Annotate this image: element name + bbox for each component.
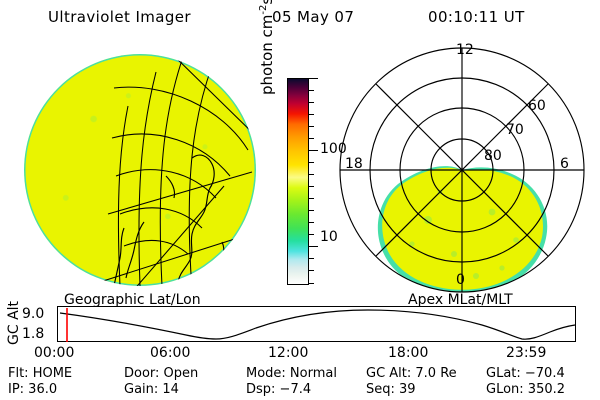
- observation-date: 05 May 07: [272, 8, 354, 26]
- polar-grid: [336, 44, 588, 296]
- header-bar: Ultraviolet Imager 05 May 07 00:10:11 UT: [0, 6, 600, 30]
- status-gain: Gain: 14: [124, 382, 179, 397]
- latitude-label-60: 60: [528, 98, 546, 114]
- orbit-altitude-plot[interactable]: [57, 306, 576, 342]
- colorbar-exp-1: -2: [258, 5, 269, 15]
- status-glat: GLat: −70.4: [486, 366, 565, 381]
- latitude-label-80: 80: [484, 148, 502, 164]
- orbit-track: [58, 307, 577, 343]
- mlt-label-6: 6: [560, 156, 569, 172]
- colorbar-ticks: [309, 78, 319, 285]
- latitude-label-70: 70: [506, 122, 524, 138]
- time-tick-2359: 23:59: [506, 345, 546, 361]
- polar-mlat-mlt-panel[interactable]: 12 6 0 18 60 70 80: [336, 44, 588, 296]
- status-gc-alt: GC Alt: 7.0 Re: [366, 366, 457, 381]
- status-dsp: Dsp: −7.4: [246, 382, 311, 397]
- time-tick-1800: 18:00: [388, 345, 428, 361]
- gc-alt-tick-high: 9.0: [22, 306, 44, 322]
- time-tick-1200: 12:00: [268, 345, 308, 361]
- time-tick-0600: 06:00: [150, 345, 190, 361]
- geographic-overlay: [16, 46, 264, 294]
- instrument-title: Ultraviolet Imager: [48, 8, 191, 26]
- colorbar-title-text: photon cm: [258, 15, 276, 95]
- colorbar-title-mid: s: [258, 0, 276, 5]
- mlt-label-12: 12: [456, 42, 474, 58]
- uvi-display: Ultraviolet Imager 05 May 07 00:10:11 UT: [0, 0, 600, 400]
- colorbar-axis-title: photon cm-2s-1: [258, 0, 276, 95]
- status-mode: Mode: Normal: [246, 366, 337, 381]
- status-glon: GLon: 350.2: [486, 382, 565, 397]
- colorbar-gradient: [287, 78, 309, 285]
- geographic-image-panel[interactable]: [16, 46, 264, 294]
- time-tick-0000: 00:00: [34, 345, 74, 361]
- status-seq: Seq: 39: [366, 382, 416, 397]
- status-bar: Flt: HOME Door: Open Mode: Normal GC Alt…: [0, 366, 600, 400]
- observation-time: 00:10:11 UT: [428, 8, 525, 26]
- status-flight: Flt: HOME: [8, 366, 72, 381]
- status-ip: IP: 36.0: [8, 382, 57, 397]
- status-door: Door: Open: [124, 366, 198, 381]
- mlt-label-0: 0: [456, 272, 465, 288]
- gc-alt-axis-title: GC Alt: [6, 301, 22, 345]
- gc-alt-tick-low: 1.8: [22, 326, 44, 342]
- mlt-label-18: 18: [345, 156, 363, 172]
